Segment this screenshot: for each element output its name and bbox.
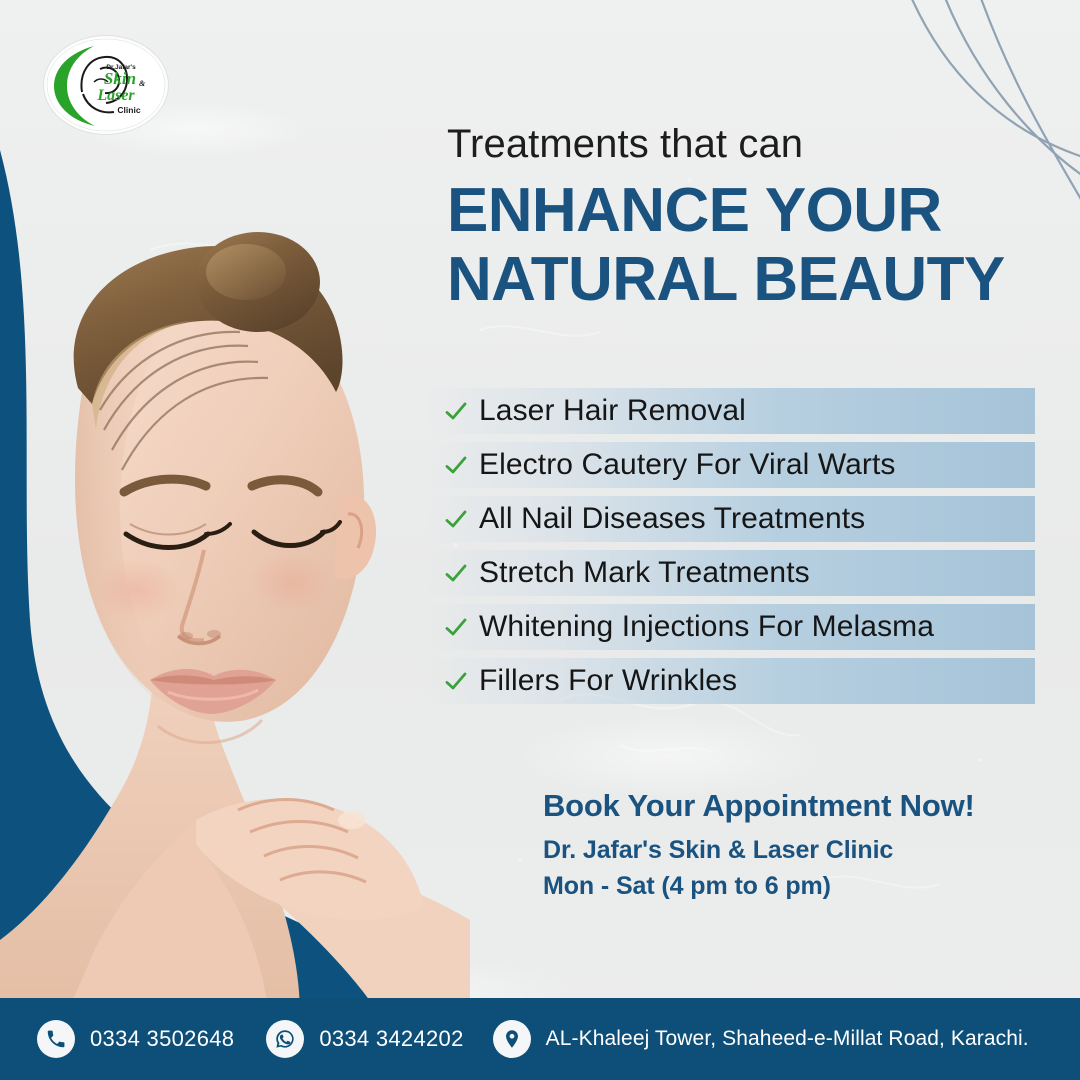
headline-line-1: ENHANCE YOUR xyxy=(447,178,1047,245)
address-text: AL-Khaleej Tower, Shaheed-e-Millat Road,… xyxy=(546,1027,1029,1051)
list-item: Stretch Mark Treatments xyxy=(425,550,1035,596)
check-icon xyxy=(443,506,469,532)
check-icon xyxy=(443,398,469,424)
phone-icon xyxy=(37,1020,75,1058)
headline-line-2: NATURAL BEAUTY xyxy=(447,247,1047,314)
booking-cta-title: Book Your Appointment Now! xyxy=(543,787,975,826)
list-item: Laser Hair Removal xyxy=(425,388,1035,434)
poster-canvas: Dr.Jafar's Skin & Laser Clinic Treatment… xyxy=(0,0,1080,1080)
logo-skin-text: Skin xyxy=(104,69,136,88)
contact-address[interactable]: AL-Khaleej Tower, Shaheed-e-Millat Road,… xyxy=(493,1020,1029,1058)
footer-contact-bar: 0334 3502648 0334 3424202 AL-Khaleej Tow… xyxy=(0,998,1080,1080)
contact-whatsapp[interactable]: 0334 3424202 xyxy=(266,1020,463,1058)
phone-number: 0334 3502648 xyxy=(90,1026,234,1052)
logo-clinic-text: Clinic xyxy=(117,105,140,115)
booking-block: Book Your Appointment Now! Dr. Jafar's S… xyxy=(543,787,975,904)
list-item: Fillers For Wrinkles xyxy=(425,658,1035,704)
logo-laser-text: Laser xyxy=(96,87,135,104)
check-icon xyxy=(443,668,469,694)
location-pin-icon xyxy=(493,1020,531,1058)
list-item-label: All Nail Diseases Treatments xyxy=(479,502,865,536)
headline-block: Treatments that can ENHANCE YOUR NATURAL… xyxy=(447,122,1047,314)
booking-clinic-name: Dr. Jafar's Skin & Laser Clinic xyxy=(543,832,975,868)
contact-phone[interactable]: 0334 3502648 xyxy=(37,1020,234,1058)
whatsapp-icon xyxy=(266,1020,304,1058)
list-item-label: Fillers For Wrinkles xyxy=(479,664,737,698)
check-icon xyxy=(443,452,469,478)
clinic-logo: Dr.Jafar's Skin & Laser Clinic xyxy=(44,36,168,134)
logo-ampersand: & xyxy=(139,79,146,88)
check-icon xyxy=(443,560,469,586)
list-item-label: Electro Cautery For Viral Warts xyxy=(479,448,896,482)
headline-eyebrow: Treatments that can xyxy=(447,122,1047,166)
list-item: Whitening Injections For Melasma xyxy=(425,604,1035,650)
list-item: Electro Cautery For Viral Warts xyxy=(425,442,1035,488)
list-item: All Nail Diseases Treatments xyxy=(425,496,1035,542)
model-portrait-photo xyxy=(0,120,470,1015)
booking-hours: Mon - Sat (4 pm to 6 pm) xyxy=(543,868,975,904)
list-item-label: Laser Hair Removal xyxy=(479,394,746,428)
treatments-list: Laser Hair Removal Electro Cautery For V… xyxy=(425,388,1035,712)
whatsapp-number: 0334 3424202 xyxy=(319,1026,463,1052)
check-icon xyxy=(443,614,469,640)
list-item-label: Whitening Injections For Melasma xyxy=(479,610,934,644)
list-item-label: Stretch Mark Treatments xyxy=(479,556,810,590)
